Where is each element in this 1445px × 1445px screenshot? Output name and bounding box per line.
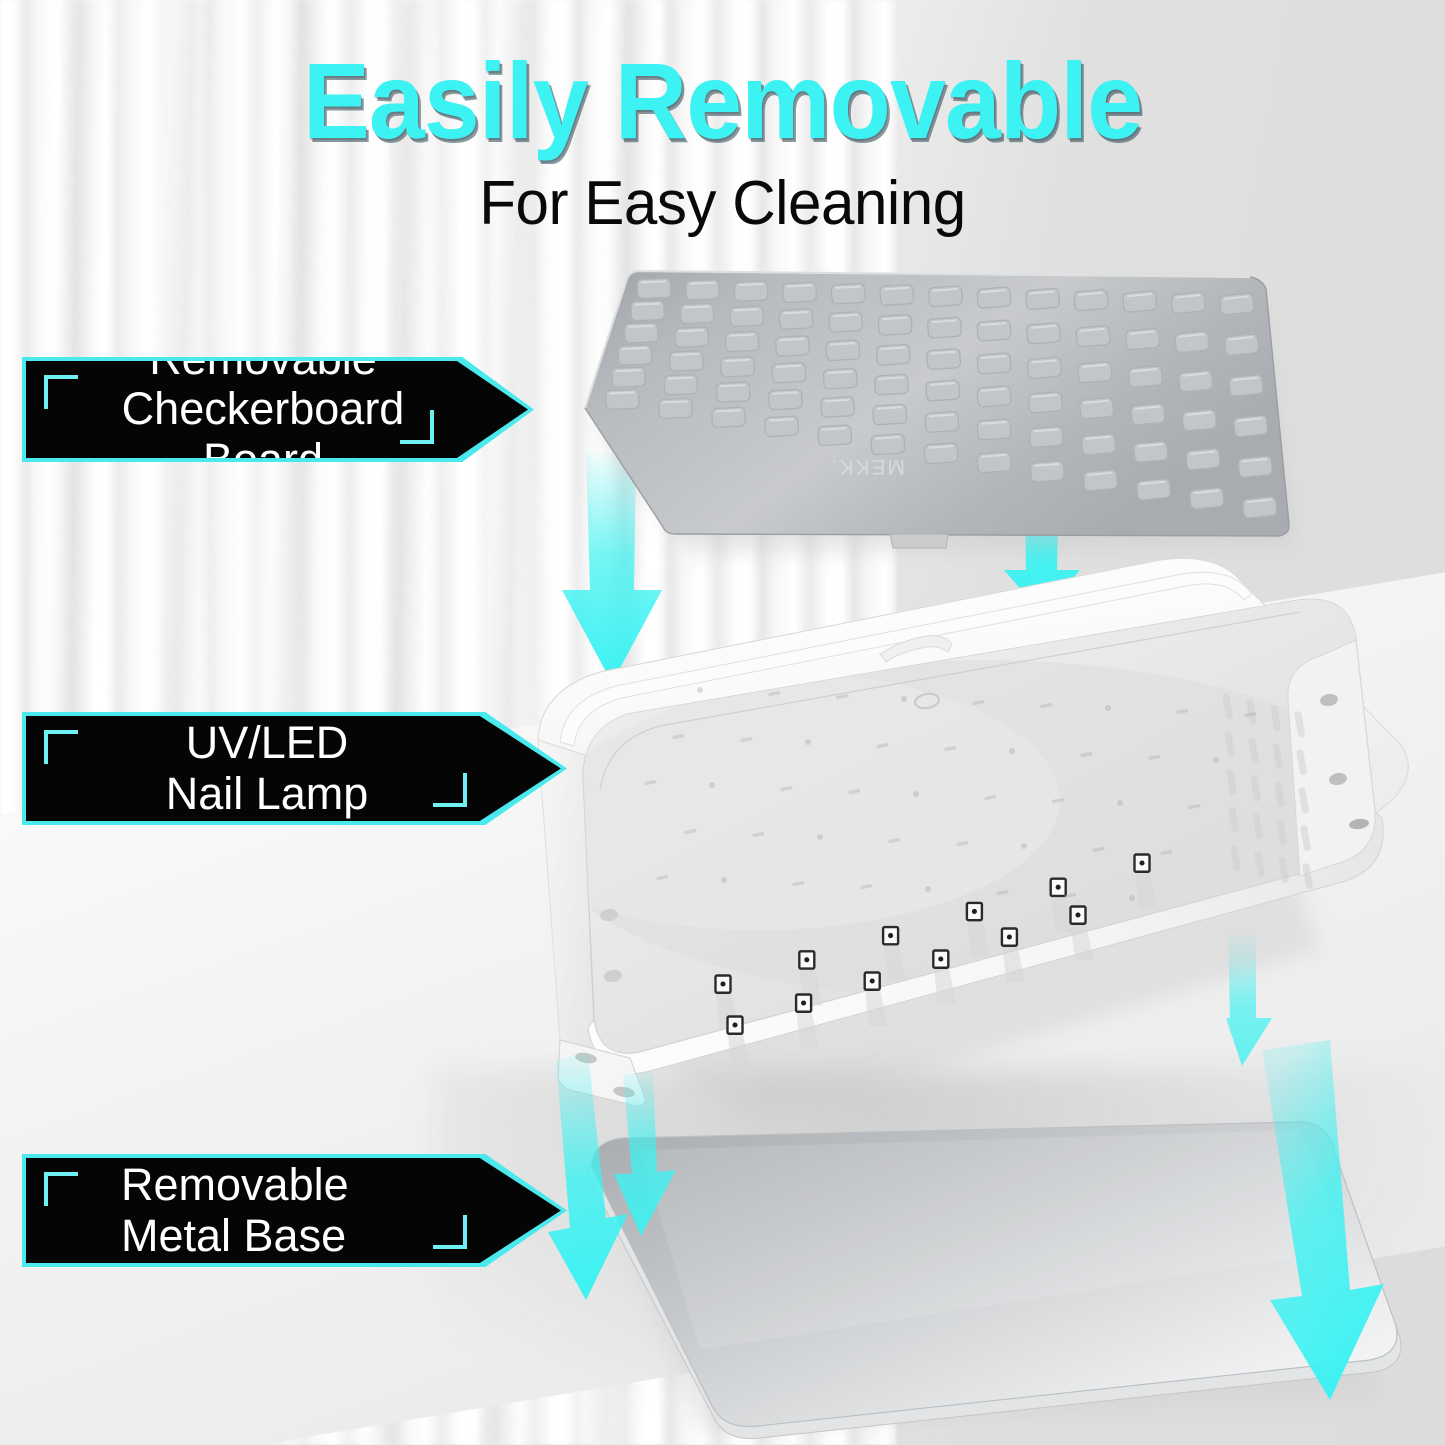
arrow-down-left-inner: [614, 1070, 676, 1236]
arrow-down-right-lamp-to-base: [1262, 1040, 1384, 1400]
corner-bracket-top-left-icon: [44, 1172, 78, 1206]
corner-bracket-top-left-icon: [44, 730, 78, 764]
corner-bracket-top-left-icon: [44, 375, 78, 409]
callout-checkerboard[interactable]: Removable Checkerboard Board: [22, 357, 534, 462]
page-title: Easily Removable: [51, 46, 1395, 156]
product-feature-graphic: MEKK.: [0, 0, 1445, 1445]
callout-uv-led-lamp[interactable]: UV/LED Nail Lamp: [22, 712, 567, 825]
callout-uv-led-lamp-label: UV/LED Nail Lamp: [26, 718, 563, 819]
callout-metal-base[interactable]: Removable Metal Base: [22, 1154, 567, 1267]
corner-bracket-bottom-right-icon: [400, 410, 434, 444]
corner-bracket-bottom-right-icon: [433, 773, 467, 807]
corner-bracket-bottom-right-icon: [433, 1215, 467, 1249]
page-subtitle: For Easy Cleaning: [22, 168, 1424, 239]
title-block: Easily Removable For Easy Cleaning: [0, 46, 1445, 239]
callout-metal-base-label: Removable Metal Base: [26, 1160, 563, 1261]
